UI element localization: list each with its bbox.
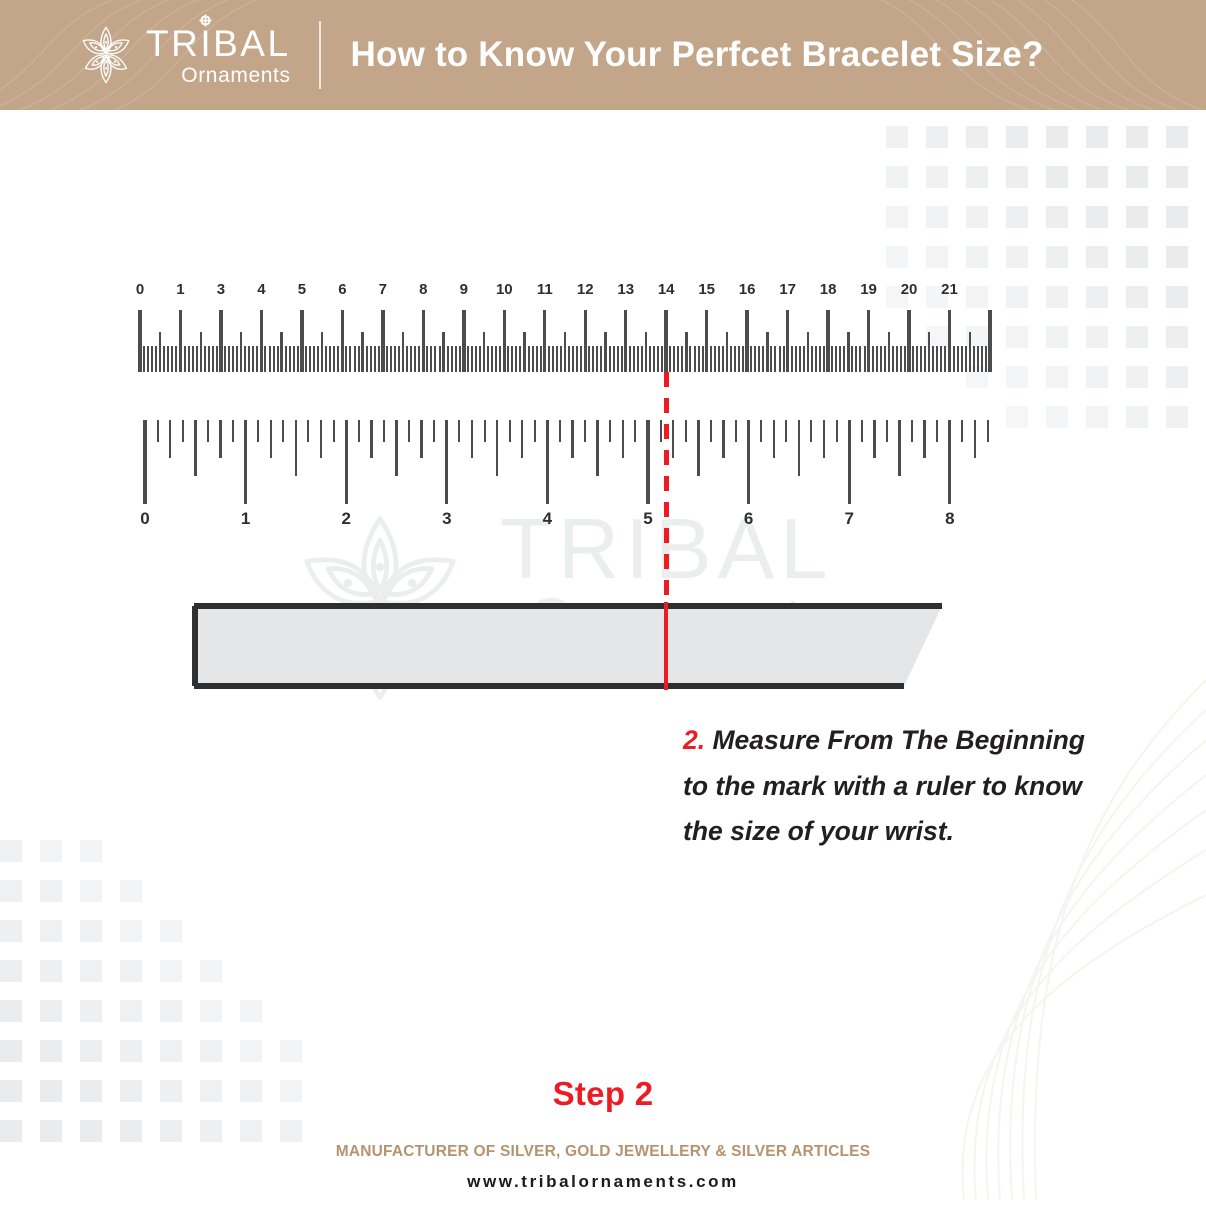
ruler-tick-minor	[212, 346, 214, 372]
ruler-tick-minor	[673, 346, 675, 372]
ruler-tick-minor	[637, 346, 639, 372]
ruler-tick-minor	[672, 420, 674, 458]
ruler-tick-minor	[495, 346, 497, 372]
ruler-tick-minor	[987, 420, 989, 442]
ruler-tick-minor	[196, 346, 198, 372]
ruler-tick-minor	[900, 346, 902, 372]
ruler-tick-minor	[613, 346, 615, 372]
ruler-tick-minor	[718, 346, 720, 372]
ruler-tick-major	[848, 420, 851, 504]
ruler-tick-major	[705, 310, 708, 372]
ruler-tick-minor	[847, 332, 849, 372]
ruler-tick-minor	[358, 346, 360, 372]
ruler-tick-minor	[722, 420, 724, 458]
watermark-brand-name: TRIBAL	[500, 510, 834, 591]
ruler-tick-minor	[916, 346, 918, 372]
ruler-tick-minor	[892, 346, 894, 372]
ruler-tick-minor	[345, 346, 347, 372]
ruler-tick-minor	[884, 346, 886, 372]
page-header: TRIBAL Ornaments How to Know Your Perfce…	[0, 0, 1206, 110]
ruler-tick-minor	[507, 346, 509, 372]
ruler-tick-minor	[458, 420, 460, 442]
ruler-tick-minor	[321, 332, 323, 372]
cm-ruler-label: 12	[567, 281, 603, 298]
ruler-tick-minor	[182, 420, 184, 442]
ruler-tick-minor	[270, 420, 272, 458]
step-label: Step 2	[0, 1075, 1206, 1113]
ruler-tick-minor	[252, 346, 254, 372]
ruler-tick-minor	[843, 346, 845, 372]
ruler-tick-minor	[269, 346, 271, 372]
ruler-tick-major	[143, 420, 146, 504]
ruler-tick-minor	[936, 420, 938, 442]
ruler-tick-minor	[969, 332, 971, 372]
cm-ruler-label: 7	[365, 281, 401, 298]
ruler-tick-minor	[277, 346, 279, 372]
ruler-tick-minor	[888, 332, 890, 372]
ruler-tick-minor	[762, 346, 764, 372]
ruler-tick-minor	[370, 346, 372, 372]
ruler-tick-minor	[803, 346, 805, 372]
ruler-tick-minor	[414, 346, 416, 372]
ruler-tick-minor	[534, 420, 536, 442]
ruler-tick-minor	[912, 346, 914, 372]
ruler-tick-minor	[657, 346, 659, 372]
ruler-tick-minor	[911, 420, 913, 442]
ruler-tick-minor	[556, 346, 558, 372]
ruler-tick-major	[745, 310, 748, 372]
ruler-tick-major	[179, 310, 182, 372]
ruler-tick-minor	[329, 346, 331, 372]
ruler-tick-minor	[839, 346, 841, 372]
ruler-tick-minor	[760, 420, 762, 442]
ruler-tick-minor	[232, 346, 234, 372]
ruler-tick-minor	[694, 346, 696, 372]
ruler-tick-minor	[783, 346, 785, 372]
ruler-tick-minor	[920, 346, 922, 372]
ruler-tick-minor	[354, 346, 356, 372]
ruler-tick-minor	[936, 346, 938, 372]
ruler-tick-minor	[799, 346, 801, 372]
ruler-tick-minor	[285, 346, 287, 372]
ruler-tick-minor	[374, 346, 376, 372]
ruler-tick-minor	[880, 346, 882, 372]
page-footer: Step 2 MANUFACTURER OF SILVER, GOLD JEWE…	[0, 1075, 1206, 1192]
ruler-tick-major	[664, 310, 667, 372]
ruler-tick-minor	[515, 346, 517, 372]
ruler-tick-minor	[426, 346, 428, 372]
ruler-tick-major	[584, 310, 587, 372]
ruler-tick-minor	[702, 346, 704, 372]
ruler-tick-minor	[898, 420, 901, 476]
inch-ruler-label: 5	[630, 509, 666, 529]
ruler-tick-minor	[876, 346, 878, 372]
ruler-tick-major	[219, 310, 222, 372]
ruler-tick-minor	[434, 346, 436, 372]
ruler-tick-minor	[528, 346, 530, 372]
ruler-tick-minor	[770, 346, 772, 372]
ruler-tick-minor	[568, 346, 570, 372]
ruler-tick-minor	[738, 346, 740, 372]
ruler-tick-minor	[378, 346, 380, 372]
ruler-tick-minor	[333, 346, 335, 372]
cm-ruler-label: 6	[324, 281, 360, 298]
ruler-tick-minor	[633, 346, 635, 372]
paper-strip-shape	[190, 600, 960, 692]
inch-ruler-label: 7	[831, 509, 867, 529]
ruler-tick-major	[867, 310, 870, 372]
logo-accent-flower-icon	[199, 14, 212, 27]
ruler-tick-minor	[236, 346, 238, 372]
ruler-tick-minor	[264, 346, 266, 372]
ruler-tick-minor	[398, 346, 400, 372]
ruler-tick-major	[300, 310, 303, 372]
ruler-tick-minor	[383, 420, 385, 442]
ruler-tick-minor	[872, 346, 874, 372]
ruler-tick-minor	[487, 346, 489, 372]
ruler-tick-minor	[224, 346, 226, 372]
ruler-tick-major	[747, 420, 750, 504]
ruler-tick-minor	[886, 420, 888, 442]
ruler-tick-minor	[159, 332, 161, 372]
ruler-tick-major	[345, 420, 348, 504]
ruler-tick-minor	[726, 332, 728, 372]
ruler-tick-minor	[491, 346, 493, 372]
ruler-tick-major	[445, 420, 448, 504]
ruler-tick-minor	[163, 346, 165, 372]
ruler-tick-minor	[977, 346, 979, 372]
brand-logo: TRIBAL Ornaments	[78, 24, 291, 86]
ruler-tick-minor	[710, 420, 712, 442]
ruler-tick-minor	[689, 346, 691, 372]
ruler-tick-major	[422, 310, 425, 372]
ruler-tick-minor	[609, 346, 611, 372]
ruler-tick-minor	[273, 346, 275, 372]
background-dot-pattern-top-right	[886, 126, 1206, 446]
ruler-tick-minor	[390, 346, 392, 372]
ruler-tick-minor	[204, 346, 206, 372]
inch-ruler-label: 1	[228, 509, 264, 529]
ruler-tick-minor	[439, 346, 441, 372]
ruler-tick-minor	[698, 346, 700, 372]
ruler-tick-minor	[742, 346, 744, 372]
bracelet-size-guide-page: TRIBAL Ornaments How to Know Your Perfce…	[0, 0, 1206, 1206]
ruler-tick-major	[381, 310, 384, 372]
ruler-tick-minor	[661, 346, 663, 372]
ruler-tick-major	[948, 420, 951, 504]
ruler-tick-minor	[147, 346, 149, 372]
ruler-tick-minor	[774, 346, 776, 372]
ruler-tick-minor	[564, 332, 566, 372]
ruler-tick-minor	[965, 346, 967, 372]
ruler-tick-minor	[358, 420, 360, 442]
ruler-tick-minor	[361, 332, 363, 372]
ruler-tick-minor	[297, 346, 299, 372]
cm-ruler-label: 17	[770, 281, 806, 298]
ruler-tick-minor	[219, 420, 221, 458]
ruler-tick-major	[786, 310, 789, 372]
inch-ruler-label: 6	[731, 509, 767, 529]
ruler-tick-minor	[722, 346, 724, 372]
ruler-tick-minor	[734, 346, 736, 372]
ruler-tick-minor	[370, 420, 372, 458]
ruler-tick-major	[543, 310, 546, 372]
ruler-tick-major	[988, 310, 991, 372]
ruler-tick-minor	[496, 420, 499, 476]
ruler-tick-minor	[685, 420, 687, 442]
ruler-tick-minor	[467, 346, 469, 372]
ruler-tick-minor	[609, 420, 611, 442]
ruler-tick-minor	[442, 332, 444, 372]
ruler-tick-minor	[151, 346, 153, 372]
ruler-tick-minor	[580, 346, 582, 372]
instruction-text: 2. Measure From The Beginning to the mar…	[683, 718, 1103, 855]
footer-website-url: www.tribalornaments.com	[0, 1172, 1206, 1192]
ruler-tick-minor	[523, 332, 525, 372]
ruler-tick-minor	[430, 346, 432, 372]
ruler-tick-minor	[798, 420, 801, 476]
ruler-tick-minor	[823, 420, 825, 458]
ruler-tick-minor	[904, 346, 906, 372]
ruler-tick-minor	[766, 332, 768, 372]
ruler-tick-minor	[973, 346, 975, 372]
ruler-tick-minor	[192, 346, 194, 372]
ruler-tick-minor	[309, 346, 311, 372]
ruler-tick-minor	[810, 420, 812, 442]
ruler-tick-minor	[325, 346, 327, 372]
ruler-tick-minor	[410, 346, 412, 372]
ruler-tick-minor	[171, 346, 173, 372]
ruler-tick-major	[646, 420, 649, 504]
ruler-tick-minor	[697, 420, 700, 476]
inch-ruler-label: 8	[932, 509, 968, 529]
ruler-tick-minor	[861, 420, 863, 442]
ruler-tick-major	[546, 420, 549, 504]
ruler-tick-minor	[785, 420, 787, 442]
ruler-tick-minor	[685, 332, 687, 372]
ruler-tick-major	[948, 310, 951, 372]
ruler-tick-minor	[244, 346, 246, 372]
ruler-tick-minor	[795, 346, 797, 372]
ruler-tick-minor	[317, 346, 319, 372]
ruler-tick-minor	[859, 346, 861, 372]
ruler-tick-minor	[208, 346, 210, 372]
ruler-tick-minor	[282, 420, 284, 442]
ruler-tick-minor	[248, 346, 250, 372]
ruler-tick-minor	[923, 420, 925, 458]
cm-ruler-label: 1	[162, 281, 198, 298]
inch-ruler-label: 4	[529, 509, 565, 529]
ruler-tick-minor	[622, 420, 624, 458]
ruler-tick-minor	[617, 346, 619, 372]
ruler-tick-minor	[548, 346, 550, 372]
cm-ruler-label: 8	[405, 281, 441, 298]
ruler-tick-minor	[836, 420, 838, 442]
ruler-tick-minor	[592, 346, 594, 372]
ruler-tick-minor	[349, 346, 351, 372]
inch-ruler-label: 2	[328, 509, 364, 529]
ruler-tick-major	[341, 310, 344, 372]
ruler-tick-minor	[924, 346, 926, 372]
ruler-tick-minor	[645, 332, 647, 372]
ruler-tick-minor	[509, 420, 511, 442]
ruler-tick-minor	[940, 346, 942, 372]
ruler-tick-minor	[479, 346, 481, 372]
ruler-tick-minor	[932, 346, 934, 372]
ruler-tick-minor	[896, 346, 898, 372]
ruler-tick-minor	[169, 420, 171, 458]
ruler-tick-minor	[714, 346, 716, 372]
ruler-tick-minor	[475, 346, 477, 372]
ruler-tick-minor	[604, 332, 606, 372]
ruler-tick-minor	[188, 346, 190, 372]
ruler-tick-minor	[521, 420, 523, 458]
ruler-tick-minor	[823, 346, 825, 372]
ruler-tick-major	[624, 310, 627, 372]
ruler-tick-minor	[293, 346, 295, 372]
ruler-tick-major	[503, 310, 506, 372]
ruler-tick-minor	[677, 346, 679, 372]
ruler-tick-minor	[451, 346, 453, 372]
ruler-tick-minor	[758, 346, 760, 372]
ruler-tick-minor	[402, 332, 404, 372]
brand-name: TRIBAL	[146, 25, 291, 62]
brand-subtitle: Ornaments	[181, 65, 290, 86]
ruler-tick-minor	[572, 346, 574, 372]
ruler-tick-minor	[386, 346, 388, 372]
inch-ruler-label: 3	[429, 509, 465, 529]
ruler-tick-minor	[641, 346, 643, 372]
cm-ruler-label: 11	[527, 281, 563, 298]
cm-ruler-label: 16	[729, 281, 765, 298]
ruler-tick-minor	[499, 346, 501, 372]
ruler-tick-minor	[754, 346, 756, 372]
ruler-tick-minor	[621, 346, 623, 372]
ruler-tick-minor	[232, 420, 234, 442]
ruler-tick-minor	[280, 332, 282, 372]
ruler-tick-minor	[588, 346, 590, 372]
ruler-tick-minor	[855, 346, 857, 372]
ruler-tick-minor	[730, 346, 732, 372]
instruction-step-number: 2.	[683, 725, 705, 755]
ruler-tick-minor	[333, 420, 335, 442]
lotus-flower-icon	[78, 24, 134, 86]
ruler-tick-minor	[155, 346, 157, 372]
cm-ruler-label: 3	[203, 281, 239, 298]
ruler-tick-minor	[571, 420, 573, 458]
ruler-tick-minor	[207, 420, 209, 442]
ruler-tick-minor	[471, 346, 473, 372]
ruler-tick-minor	[660, 420, 662, 442]
ruler-tick-minor	[483, 332, 485, 372]
ruler-tick-minor	[366, 346, 368, 372]
ruler-tick-minor	[257, 420, 259, 442]
ruler-tick-minor	[629, 346, 631, 372]
ruler-tick-minor	[240, 332, 242, 372]
ruler-tick-minor	[167, 346, 169, 372]
ruler-tick-minor	[184, 346, 186, 372]
ruler-tick-major	[244, 420, 247, 504]
ruler-tick-minor	[735, 420, 737, 442]
ruler-tick-minor	[143, 346, 145, 372]
cm-ruler-label: 21	[932, 281, 968, 298]
header-divider	[319, 21, 321, 89]
ruler-tick-minor	[649, 346, 651, 372]
ruler-tick-minor	[961, 346, 963, 372]
cm-ruler-label: 13	[608, 281, 644, 298]
ruler-tick-minor	[560, 346, 562, 372]
ruler-tick-minor	[953, 346, 955, 372]
cm-ruler-label: 14	[648, 281, 684, 298]
ruler-tick-minor	[175, 346, 177, 372]
cm-ruler-label: 0	[122, 281, 158, 298]
ruler-tick-minor	[459, 346, 461, 372]
ruler-tick-minor	[835, 346, 837, 372]
ruler-tick-minor	[420, 420, 422, 458]
ruler-tick-minor	[406, 346, 408, 372]
ruler-tick-minor	[157, 420, 159, 442]
ruler-tick-minor	[851, 346, 853, 372]
ruler-tick-minor	[471, 420, 473, 458]
ruler-tick-minor	[256, 346, 258, 372]
ruler-tick-minor	[289, 346, 291, 372]
ruler-tick-major	[826, 310, 829, 372]
cm-ruler-label: 15	[689, 281, 725, 298]
ruler-tick-minor	[681, 346, 683, 372]
ruler-tick-major	[260, 310, 263, 372]
ruler-tick-minor	[807, 332, 809, 372]
cm-ruler-label: 5	[284, 281, 320, 298]
ruler-tick-minor	[596, 346, 598, 372]
ruler-tick-minor	[831, 346, 833, 372]
instruction-body: Measure From The Beginning to the mark w…	[683, 725, 1085, 846]
cm-ruler-label: 10	[486, 281, 522, 298]
ruler-tick-minor	[957, 346, 959, 372]
ruler-tick-minor	[395, 420, 398, 476]
ruler-tick-minor	[484, 420, 486, 442]
paper-strip	[190, 600, 960, 692]
ruler-tick-minor	[433, 420, 435, 442]
ruler-tick-minor	[981, 346, 983, 372]
ruler-tick-minor	[710, 346, 712, 372]
ruler-tick-minor	[928, 332, 930, 372]
ruler-tick-minor	[307, 420, 309, 442]
ruler-tick-minor	[974, 420, 976, 458]
cm-ruler-label: 18	[810, 281, 846, 298]
ruler-tick-minor	[536, 346, 538, 372]
ruler-tick-minor	[313, 346, 315, 372]
cm-ruler-label: 9	[446, 281, 482, 298]
ruler-tick-minor	[394, 346, 396, 372]
ruler-tick-minor	[669, 346, 671, 372]
ruler-tick-minor	[540, 346, 542, 372]
ruler-tick-minor	[576, 346, 578, 372]
cm-ruler-label: 4	[243, 281, 279, 298]
inch-ruler-label: 0	[127, 509, 163, 529]
ruler-tick-minor	[944, 346, 946, 372]
ruler-tick-minor	[815, 346, 817, 372]
ruler-tick-minor	[408, 420, 410, 442]
ruler-tick-minor	[305, 346, 307, 372]
ruler-tick-minor	[819, 346, 821, 372]
ruler-tick-minor	[216, 346, 218, 372]
ruler-tick-minor	[864, 346, 866, 372]
ruler-tick-minor	[985, 346, 987, 372]
ruler-tick-minor	[320, 420, 322, 458]
page-title: How to Know Your Perfcet Bracelet Size?	[351, 35, 1044, 75]
ruler-tick-minor	[961, 420, 963, 442]
ruler-tick-minor	[600, 346, 602, 372]
